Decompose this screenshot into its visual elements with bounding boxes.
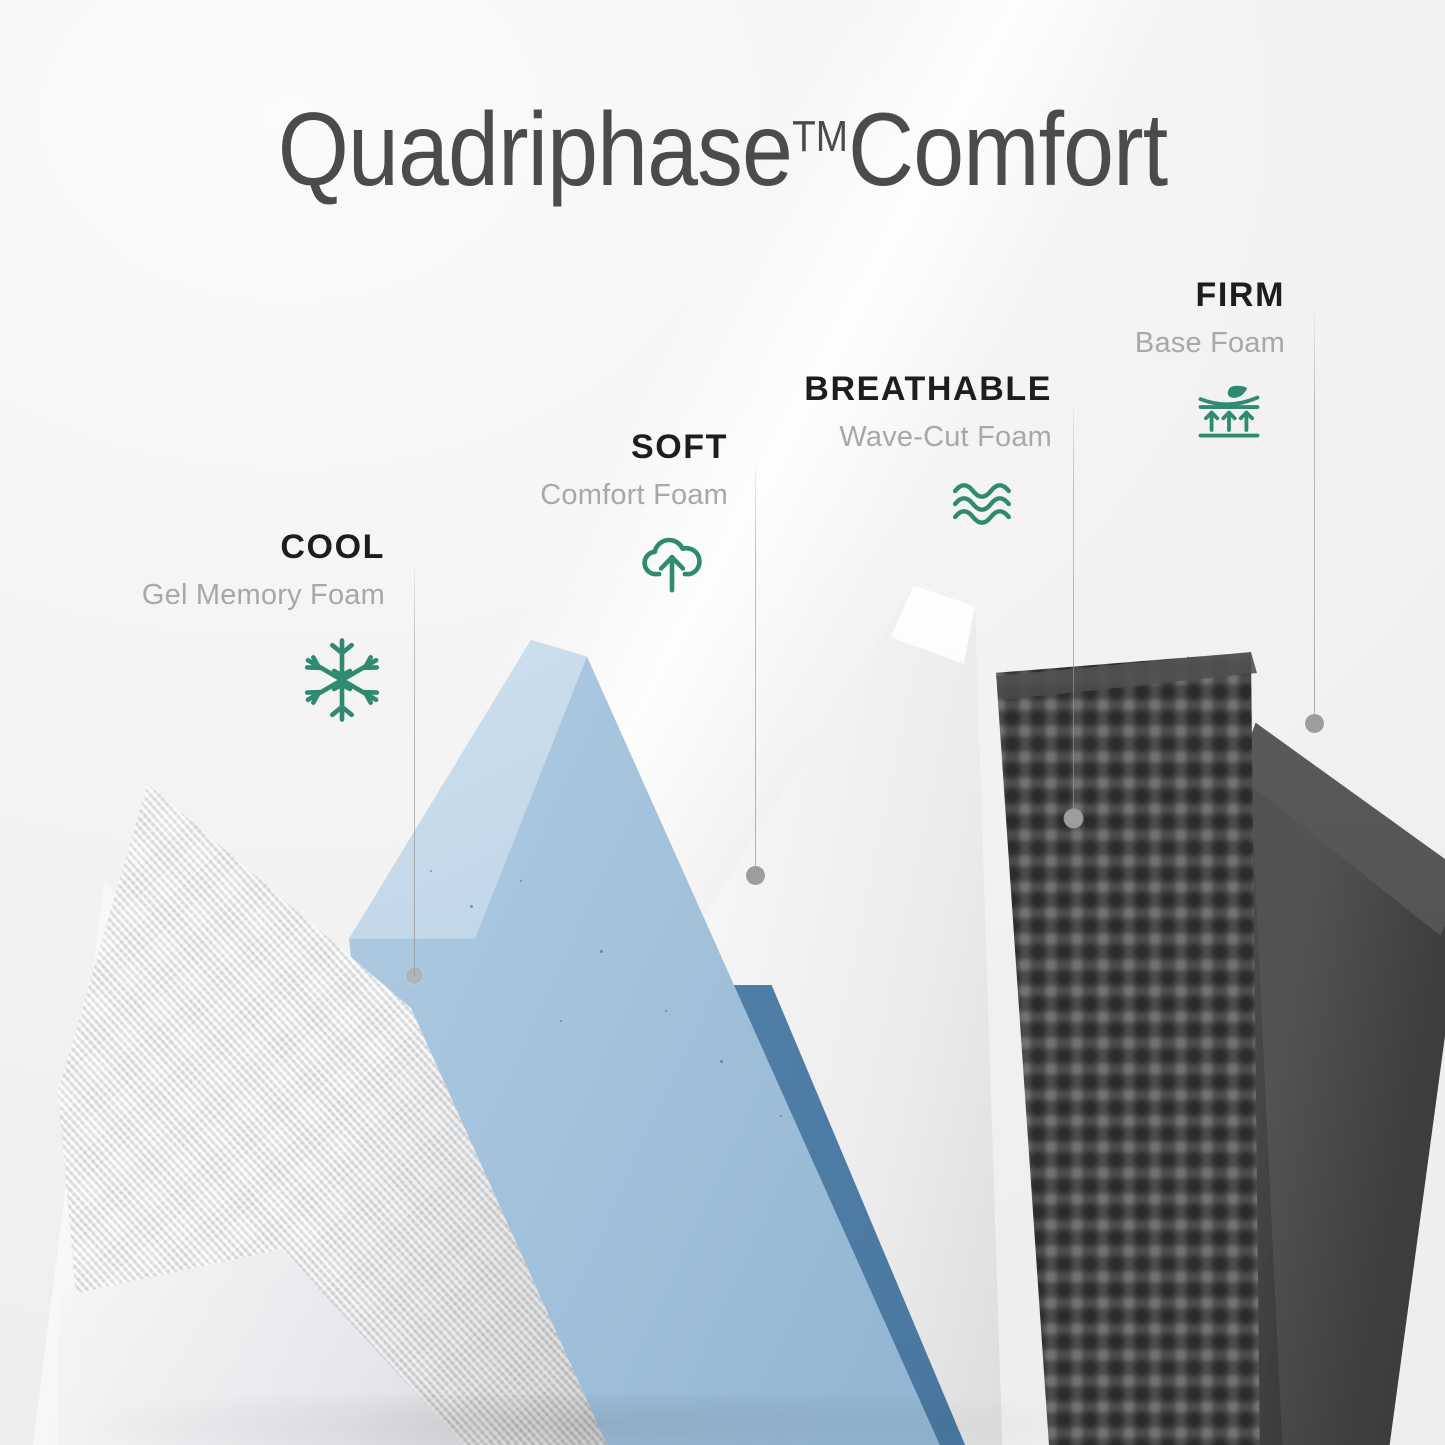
leader-dot-soft (746, 866, 765, 885)
title-suffix: Comfort (848, 92, 1167, 208)
foam-speck (470, 905, 473, 908)
snowflake-icon (70, 632, 385, 728)
wave-cut-foam-layer (960, 640, 1260, 1445)
callout-soft: SOFT Comfort Foam (440, 430, 728, 594)
foam-speck (430, 870, 432, 872)
cloud-up-arrow-icon (440, 532, 706, 594)
callout-cool-heading: COOL (70, 530, 385, 564)
infographic-canvas: QuadriphaseTMComfort COOL Gel Memory Foa… (0, 0, 1445, 1445)
foam-speck (720, 1060, 723, 1063)
callout-firm-subtitle: Base Foam (1030, 329, 1285, 358)
callout-firm-heading: FIRM (1030, 278, 1285, 312)
leader-line-cool (414, 566, 415, 976)
leaf-support-arrows-icon (1030, 382, 1267, 440)
callout-soft-subtitle: Comfort Foam (440, 481, 728, 510)
trademark-symbol: TM (792, 112, 848, 161)
foam-speck (600, 950, 603, 953)
foam-speck (665, 1010, 667, 1012)
page-title: QuadriphaseTMComfort (87, 96, 1359, 205)
leader-dot-breathable (1064, 809, 1083, 828)
foam-speck (780, 1115, 782, 1117)
callout-soft-heading: SOFT (440, 430, 728, 464)
callout-cool: COOL Gel Memory Foam (70, 530, 385, 728)
leader-dot-cool (406, 967, 423, 984)
callout-firm: FIRM Base Foam (1030, 278, 1285, 440)
contact-shadow (90, 1395, 1340, 1445)
callout-breathable: BREATHABLE Wave-Cut Foam (740, 372, 1052, 530)
title-main: Quadriphase (278, 92, 792, 208)
leader-dot-firm (1305, 714, 1324, 733)
callout-breathable-subtitle: Wave-Cut Foam (740, 423, 1052, 452)
foam-speck (520, 880, 522, 882)
callout-breathable-heading: BREATHABLE (740, 372, 1052, 406)
wavy-lines-icon (740, 478, 1022, 530)
leader-line-firm (1314, 314, 1315, 726)
foam-speck (560, 1020, 562, 1022)
leader-line-breathable (1073, 408, 1074, 820)
callout-cool-subtitle: Gel Memory Foam (70, 581, 385, 610)
